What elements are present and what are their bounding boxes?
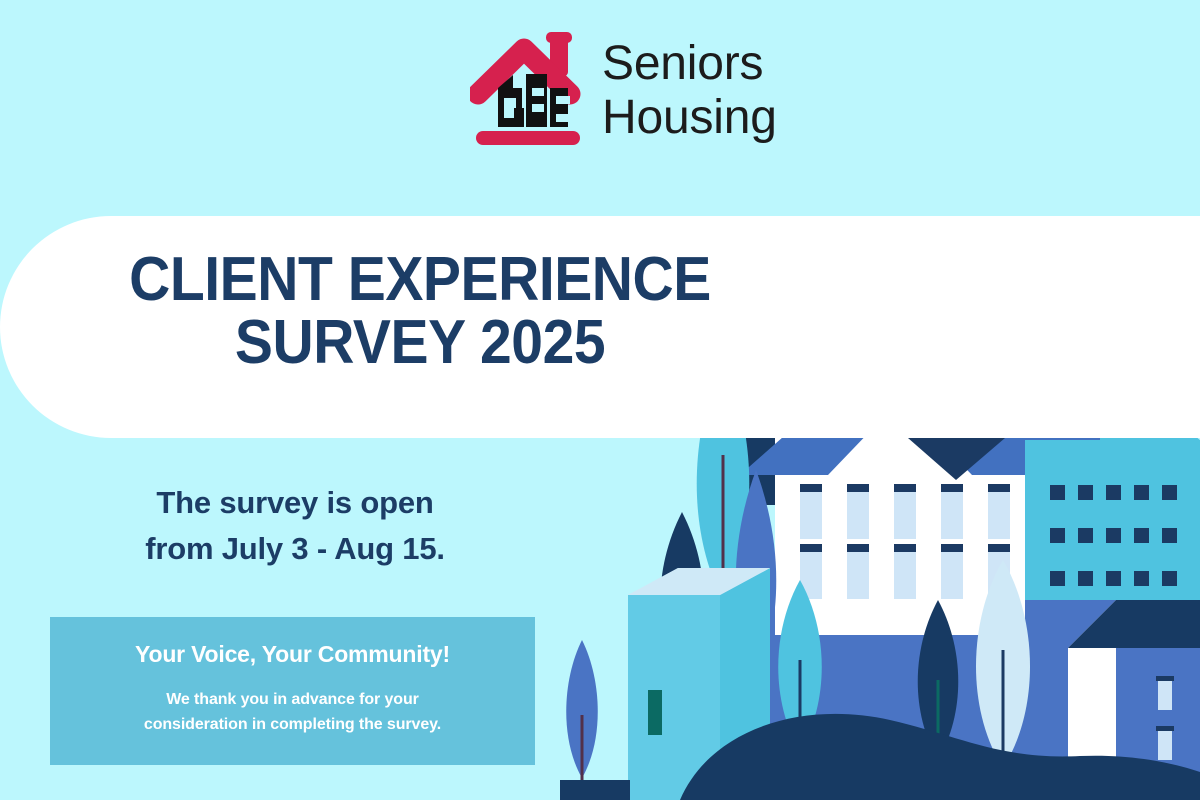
callout-box: Your Voice, Your Community! We thank you… [50, 617, 535, 765]
brand-wordmark: Seniors Housing [602, 37, 777, 145]
page-title: CLIENT EXPERIENCE SURVEY 2025 [98, 248, 742, 374]
survey-open-dates: The survey is open from July 3 - Aug 15. [60, 480, 530, 572]
callout-heading: Your Voice, Your Community! [135, 641, 450, 668]
gef-house-logo-icon [470, 30, 586, 152]
brand-logo: Seniors Housing [470, 30, 777, 152]
survey-poster: CLIENT EXPERIENCE SURVEY 2025 [0, 0, 1200, 800]
callout-body: We thank you in advance for your conside… [144, 688, 441, 738]
